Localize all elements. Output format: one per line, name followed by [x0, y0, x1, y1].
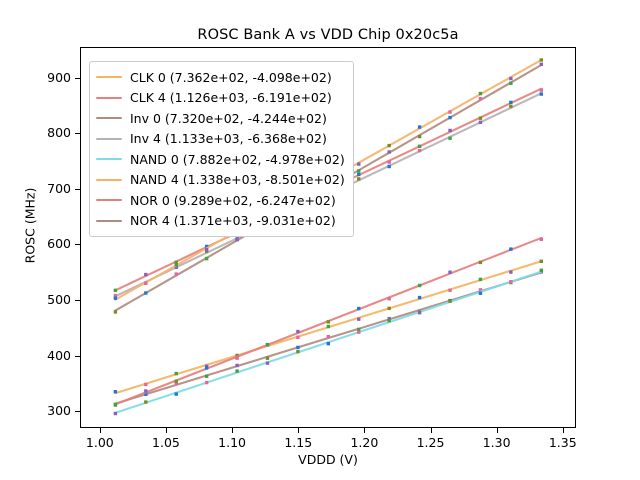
data-point-marker — [235, 364, 238, 367]
x-axis-tick — [166, 428, 167, 433]
chart-legend: CLK 0 (7.362e+02, -4.098e+02)CLK 4 (1.12… — [89, 61, 354, 237]
data-point-marker — [144, 273, 147, 276]
data-point-marker — [448, 300, 451, 303]
data-point-marker — [509, 82, 512, 85]
data-point-marker — [144, 389, 147, 392]
data-point-marker — [418, 284, 421, 287]
x-axis-tick — [232, 428, 233, 433]
data-point-marker — [479, 121, 482, 124]
data-point-marker — [479, 92, 482, 95]
x-axis-tick-label: 1.10 — [202, 435, 262, 450]
data-point-marker — [357, 169, 360, 172]
x-axis-tick-label: 1.05 — [136, 435, 196, 450]
legend-color-swatch — [96, 199, 122, 201]
data-point-marker — [540, 63, 543, 66]
legend-item-label: CLK 4 (1.126e+03, -6.191e+02) — [130, 90, 332, 105]
data-point-marker — [114, 412, 117, 415]
data-point-marker — [327, 335, 330, 338]
data-point-marker — [205, 366, 208, 369]
legend-item[interactable]: NAND 4 (1.338e+03, -8.501e+02) — [96, 170, 345, 191]
data-point-marker — [418, 149, 421, 152]
legend-item[interactable]: CLK 4 (1.126e+03, -6.191e+02) — [96, 88, 345, 109]
data-point-marker — [418, 145, 421, 148]
x-axis-tick — [100, 428, 101, 433]
data-point-marker — [418, 135, 421, 138]
data-point-marker — [357, 162, 360, 165]
data-point-marker — [387, 297, 390, 300]
y-axis-tick — [75, 78, 80, 79]
legend-color-swatch — [96, 76, 122, 78]
legend-item-label: Inv 4 (1.133e+03, -6.368e+02) — [130, 131, 327, 146]
data-point-marker — [387, 165, 390, 168]
y-axis-tick — [75, 411, 80, 412]
x-axis-label: VDDD (V) — [80, 452, 576, 467]
x-axis-tick — [563, 428, 564, 433]
data-point-marker — [418, 311, 421, 314]
x-axis-tick-label: 1.35 — [533, 435, 593, 450]
data-point-marker — [479, 261, 482, 264]
y-axis-tick — [75, 189, 80, 190]
data-point-marker — [448, 137, 451, 140]
data-point-marker — [509, 77, 512, 80]
y-axis-tick — [75, 133, 80, 134]
data-point-marker — [114, 297, 117, 300]
y-axis-tick — [75, 300, 80, 301]
data-point-marker — [144, 383, 147, 386]
legend-item[interactable]: NOR 4 (1.371e+03, -9.031e+02) — [96, 211, 345, 232]
legend-color-swatch — [96, 117, 122, 119]
data-point-marker — [540, 260, 543, 263]
x-axis-tick — [497, 428, 498, 433]
legend-color-swatch — [96, 179, 122, 181]
x-axis-tick-label: 1.25 — [401, 435, 461, 450]
data-point-marker — [175, 263, 178, 266]
data-point-marker — [175, 272, 178, 275]
data-point-marker — [296, 346, 299, 349]
legend-item[interactable]: Inv 0 (7.320e+02, -4.244e+02) — [96, 108, 345, 129]
data-point-marker — [296, 350, 299, 353]
data-point-marker — [509, 270, 512, 273]
data-point-marker — [387, 150, 390, 153]
data-point-marker — [266, 356, 269, 359]
y-axis-tick-label: 900 — [0, 70, 71, 85]
legend-color-swatch — [96, 138, 122, 140]
legend-item[interactable]: CLK 0 (7.362e+02, -4.098e+02) — [96, 67, 345, 88]
data-point-marker — [540, 58, 543, 61]
data-point-marker — [357, 177, 360, 180]
data-point-marker — [357, 173, 360, 176]
data-point-marker — [296, 330, 299, 333]
data-point-marker — [114, 390, 117, 393]
data-point-marker — [266, 361, 269, 364]
x-axis-tick-label: 1.15 — [268, 435, 328, 450]
data-point-marker — [357, 330, 360, 333]
y-axis-tick-label: 500 — [0, 292, 71, 307]
data-point-marker — [205, 375, 208, 378]
data-point-marker — [418, 125, 421, 128]
data-point-marker — [448, 110, 451, 113]
x-axis-tick — [431, 428, 432, 433]
chart-title: ROSC Bank A vs VDD Chip 0x20c5a — [80, 27, 576, 43]
data-point-marker — [479, 97, 482, 100]
y-axis-tick — [75, 244, 80, 245]
data-point-marker — [296, 336, 299, 339]
legend-color-swatch — [96, 158, 122, 160]
data-point-marker — [205, 381, 208, 384]
data-point-marker — [235, 356, 238, 359]
legend-item[interactable]: NAND 0 (7.882e+02, -4.978e+02) — [96, 149, 345, 170]
legend-color-swatch — [96, 220, 122, 222]
legend-item[interactable]: NOR 0 (9.289e+02, -6.247e+02) — [96, 190, 345, 211]
data-point-marker — [327, 325, 330, 328]
legend-item-label: NAND 0 (7.882e+02, -4.978e+02) — [130, 152, 345, 167]
data-point-marker — [387, 160, 390, 163]
data-point-marker — [175, 372, 178, 375]
data-point-marker — [235, 238, 238, 241]
data-point-marker — [479, 292, 482, 295]
legend-item[interactable]: Inv 4 (1.133e+03, -6.368e+02) — [96, 129, 345, 150]
data-point-marker — [387, 319, 390, 322]
data-point-marker — [509, 280, 512, 283]
data-point-marker — [175, 380, 178, 383]
data-point-marker — [114, 403, 117, 406]
data-point-marker — [266, 343, 269, 346]
data-point-marker — [114, 289, 117, 292]
data-point-marker — [144, 400, 147, 403]
data-point-marker — [205, 248, 208, 251]
data-point-marker — [479, 116, 482, 119]
data-point-marker — [509, 101, 512, 104]
data-point-marker — [448, 116, 451, 119]
x-axis-tick-label: 1.30 — [467, 435, 527, 450]
legend-item-label: NOR 4 (1.371e+03, -9.031e+02) — [130, 213, 336, 228]
data-point-marker — [540, 269, 543, 272]
data-point-marker — [205, 257, 208, 260]
data-point-marker — [144, 291, 147, 294]
data-point-marker — [114, 310, 117, 313]
data-point-marker — [327, 342, 330, 345]
data-point-marker — [235, 369, 238, 372]
data-point-marker — [418, 296, 421, 299]
x-axis-tick — [298, 428, 299, 433]
data-point-marker — [327, 320, 330, 323]
data-point-marker — [357, 307, 360, 310]
data-point-marker — [448, 129, 451, 132]
legend-color-swatch — [96, 97, 122, 99]
x-axis-tick-label: 1.20 — [334, 435, 394, 450]
data-point-marker — [144, 282, 147, 285]
data-point-marker — [509, 105, 512, 108]
x-axis-tick-label: 1.00 — [70, 435, 130, 450]
data-point-marker — [448, 270, 451, 273]
data-point-marker — [509, 247, 512, 250]
legend-item-label: CLK 0 (7.362e+02, -4.098e+02) — [130, 70, 332, 85]
data-point-marker — [387, 307, 390, 310]
figure-canvas: ROSC Bank A vs VDD Chip 0x20c5a 30040050… — [0, 0, 640, 480]
data-point-marker — [540, 88, 543, 91]
y-axis-label: ROSC (MHz) — [23, 166, 38, 286]
data-point-marker — [540, 238, 543, 241]
y-axis-tick — [75, 356, 80, 357]
data-point-marker — [357, 317, 360, 320]
legend-item-label: NOR 0 (9.289e+02, -6.247e+02) — [130, 193, 336, 208]
y-axis-tick-label: 800 — [0, 125, 71, 140]
data-point-marker — [175, 392, 178, 395]
data-point-marker — [387, 144, 390, 147]
data-point-marker — [448, 289, 451, 292]
y-axis-tick-label: 300 — [0, 403, 71, 418]
x-axis-tick — [364, 428, 365, 433]
legend-item-label: Inv 0 (7.320e+02, -4.244e+02) — [130, 111, 327, 126]
data-point-marker — [540, 92, 543, 95]
data-point-marker — [479, 278, 482, 281]
legend-item-label: NAND 4 (1.338e+03, -8.501e+02) — [130, 172, 345, 187]
y-axis-tick-label: 400 — [0, 348, 71, 363]
